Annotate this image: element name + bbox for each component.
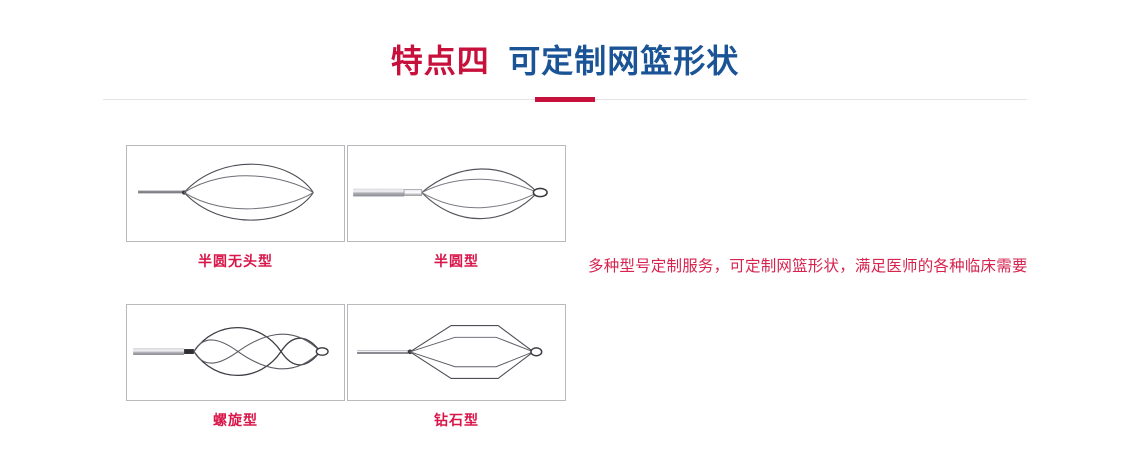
figure-basket-semicircle[interactable]: [347, 145, 566, 242]
caption-semicircle-headless: 半圆无头型: [126, 251, 345, 271]
gallery-captions-bottom: 螺旋型 钻石型: [126, 402, 568, 432]
figure-basket-diamond[interactable]: [347, 304, 566, 401]
gallery-row-gap: [126, 273, 568, 304]
caption-diamond: 钻石型: [347, 410, 566, 430]
caption-semicircle: 半圆型: [347, 251, 566, 271]
section-divider: [103, 97, 1027, 102]
basket-diamond-icon: [348, 305, 565, 400]
basket-gallery: 半圆无头型 半圆型: [126, 145, 568, 435]
basket-spiral-icon: [127, 305, 344, 400]
gallery-captions-top: 半圆无头型 半圆型: [126, 243, 568, 273]
page-title-feature: 特点四: [391, 43, 490, 79]
basket-semicircle-icon: [348, 146, 565, 241]
gallery-row-bottom: [126, 304, 568, 402]
page-title: 特点四 可定制网篮形状: [0, 36, 1130, 82]
page-title-main: 可定制网篮形状: [508, 43, 739, 79]
gallery-row-top: [126, 145, 568, 243]
basket-semicircle-headless-icon: [127, 146, 344, 241]
figure-basket-spiral[interactable]: [126, 304, 345, 401]
divider-accent-bar: [535, 97, 595, 102]
caption-spiral: 螺旋型: [126, 410, 345, 430]
figure-basket-semicircle-headless[interactable]: [126, 145, 345, 242]
feature-description: 多种型号定制服务，可定制网篮形状，满足医师的各种临床需要: [588, 253, 1040, 281]
